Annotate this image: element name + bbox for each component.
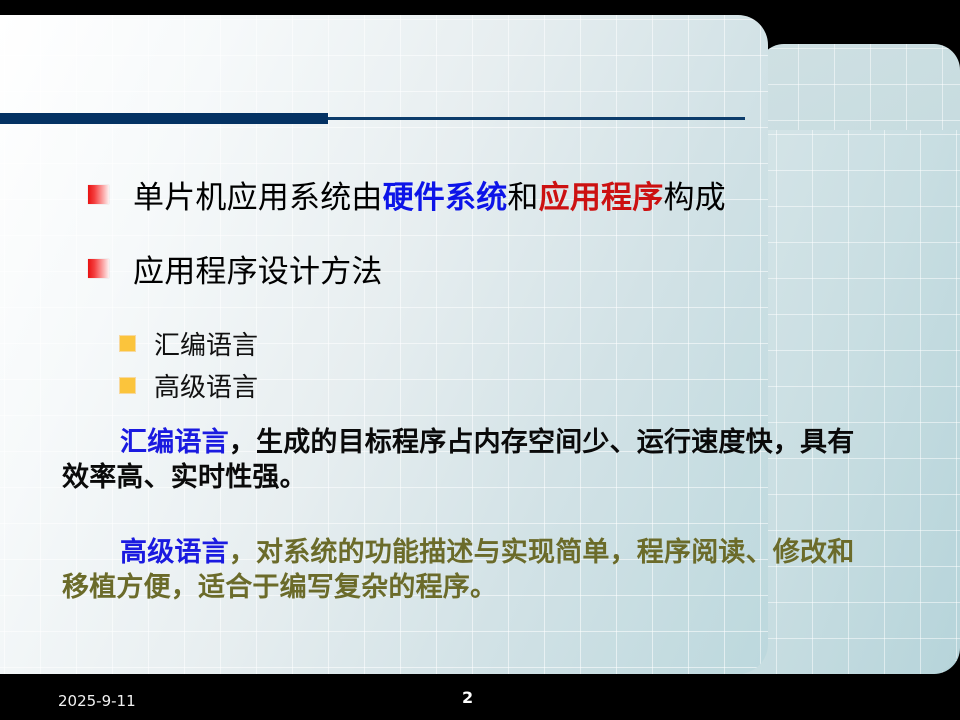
red-square-bullet-icon [88, 259, 109, 278]
paragraph-assembly-lead: 汇编语言 [120, 427, 229, 458]
sub-bullet-item-2-label: 高级语言 [154, 367, 258, 404]
bullet-1-seg-4: 应用程序 [539, 180, 664, 216]
bullet-1-seg-1: 单片机应用系统由 [133, 180, 383, 216]
bullet-1-seg-2: 硬件系统 [383, 180, 508, 216]
paragraph-highlevel-lead: 高级语言 [120, 537, 229, 568]
paragraph-assembly: 汇编语言，生成的目标程序占内存空间少、运行速度快，具有效率高、实时性强。 [62, 425, 874, 495]
bullet-item-2-label: 应用程序设计方法 [133, 246, 383, 291]
bullet-item-1-label: 单片机应用系统由硬件系统和应用程序构成 [133, 172, 726, 217]
bullet-item-2: 应用程序设计方法 [88, 246, 383, 291]
sub-bullet-item-2: 高级语言 [119, 367, 258, 404]
yellow-square-bullet-icon [119, 335, 136, 352]
yellow-square-bullet-icon [119, 377, 136, 394]
red-square-bullet-icon [88, 185, 109, 204]
slide-canvas: 单片机应用系统由硬件系统和应用程序构成 应用程序设计方法 汇编语言 高级语言 汇… [0, 0, 960, 720]
footer-page-number: 2 [462, 688, 473, 707]
slide-content: 单片机应用系统由硬件系统和应用程序构成 应用程序设计方法 汇编语言 高级语言 汇… [0, 0, 960, 720]
slide-footer-bar [0, 674, 960, 720]
footer-date: 2025-9-11 [58, 692, 136, 710]
sub-bullet-item-1-label: 汇编语言 [154, 325, 258, 362]
sub-bullet-item-1: 汇编语言 [119, 325, 258, 362]
paragraph-highlevel: 高级语言，对系统的功能描述与实现简单，程序阅读、修改和移植方便，适合于编写复杂的… [62, 535, 874, 605]
bullet-item-1: 单片机应用系统由硬件系统和应用程序构成 [88, 172, 726, 217]
bullet-1-seg-3: 和 [507, 180, 538, 216]
bullet-1-seg-5: 构成 [663, 180, 725, 216]
